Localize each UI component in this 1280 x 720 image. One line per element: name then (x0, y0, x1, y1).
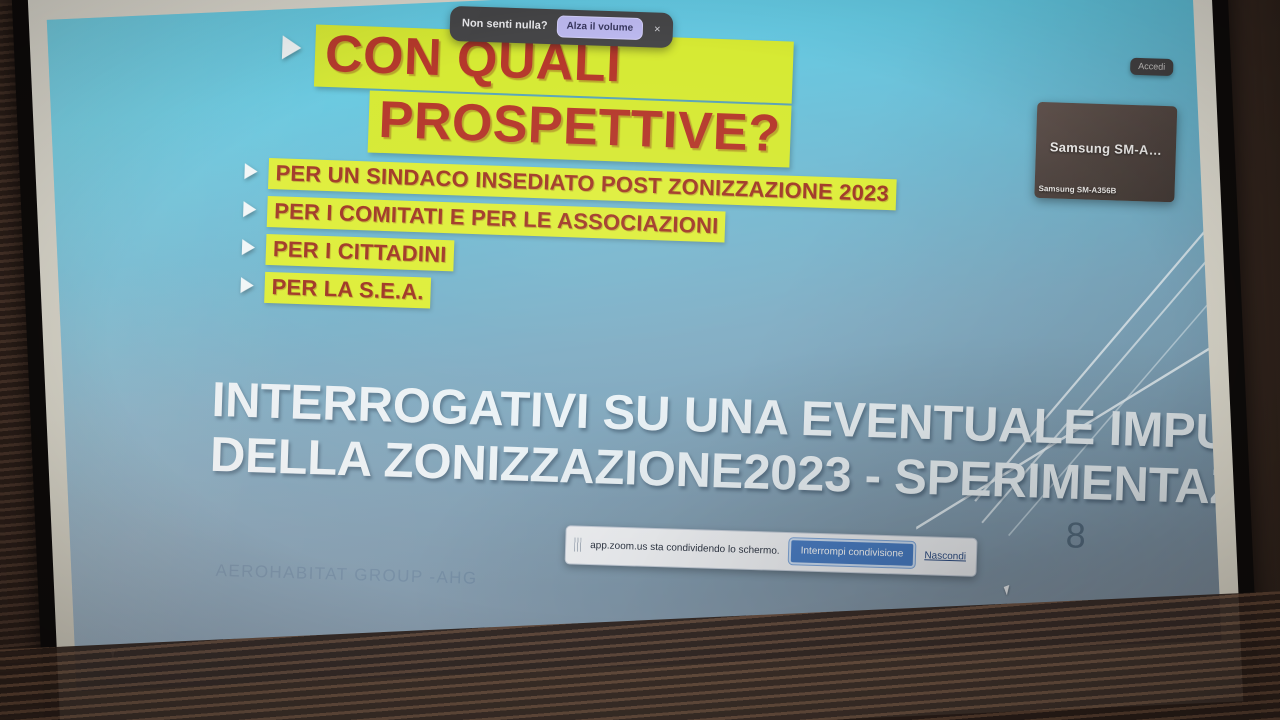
triangle-right-icon (244, 163, 258, 179)
slide-main-heading: INTERROGATIVI SU UNA EVENTUALE IMPUGNAZI… (209, 373, 1221, 524)
screen-share-bar[interactable]: app.zoom.us sta condividendo lo schermo.… (565, 525, 978, 577)
drag-grip-icon[interactable] (574, 538, 581, 552)
sign-in-button[interactable]: Accedi (1130, 58, 1174, 76)
participant-display-name: Samsung SM-A… (1036, 139, 1176, 159)
mouse-cursor-icon (1004, 585, 1013, 596)
slide-title: CON QUALI PROSPETTIVE? (279, 23, 794, 167)
participant-video-tile[interactable]: Samsung SM-A… Samsung SM-A356B (1034, 102, 1177, 202)
slide-title-line-2: PROSPETTIVE? (368, 91, 792, 168)
hide-bar-link[interactable]: Nascondi (924, 550, 968, 562)
triangle-right-icon (242, 239, 256, 255)
audio-prompt-toast: Non senti nulla? Alza il volume × (449, 6, 673, 48)
list-item-label: PER I CITTADINI (265, 234, 454, 271)
triangle-right-icon (240, 277, 254, 293)
photo-of-projected-presentation: CON QUALI PROSPETTIVE? PER UN SINDACO IN… (0, 0, 1280, 720)
stop-sharing-button[interactable]: Interrompi condivisione (788, 538, 916, 568)
raise-volume-button[interactable]: Alza il volume (556, 15, 643, 40)
participant-name-label: Samsung SM-A356B (1038, 184, 1116, 196)
audio-prompt-message: Non senti nulla? (462, 17, 548, 32)
triangle-right-icon (243, 201, 257, 217)
close-icon[interactable]: × (652, 23, 663, 35)
screen-share-message: app.zoom.us sta condividendo lo schermo. (590, 540, 780, 557)
presentation-slide: CON QUALI PROSPETTIVE? PER UN SINDACO IN… (47, 0, 1222, 691)
list-item-label: PER LA S.E.A. (264, 272, 431, 309)
slide-footer-branding: AEROHABITAT GROUP -AHG (215, 561, 477, 589)
triangle-right-icon (282, 35, 302, 60)
slide-bullet-list: PER UN SINDACO INSEDIATO POST ZONIZZAZIO… (240, 157, 896, 331)
slide-page-number: 8 (1065, 514, 1086, 557)
